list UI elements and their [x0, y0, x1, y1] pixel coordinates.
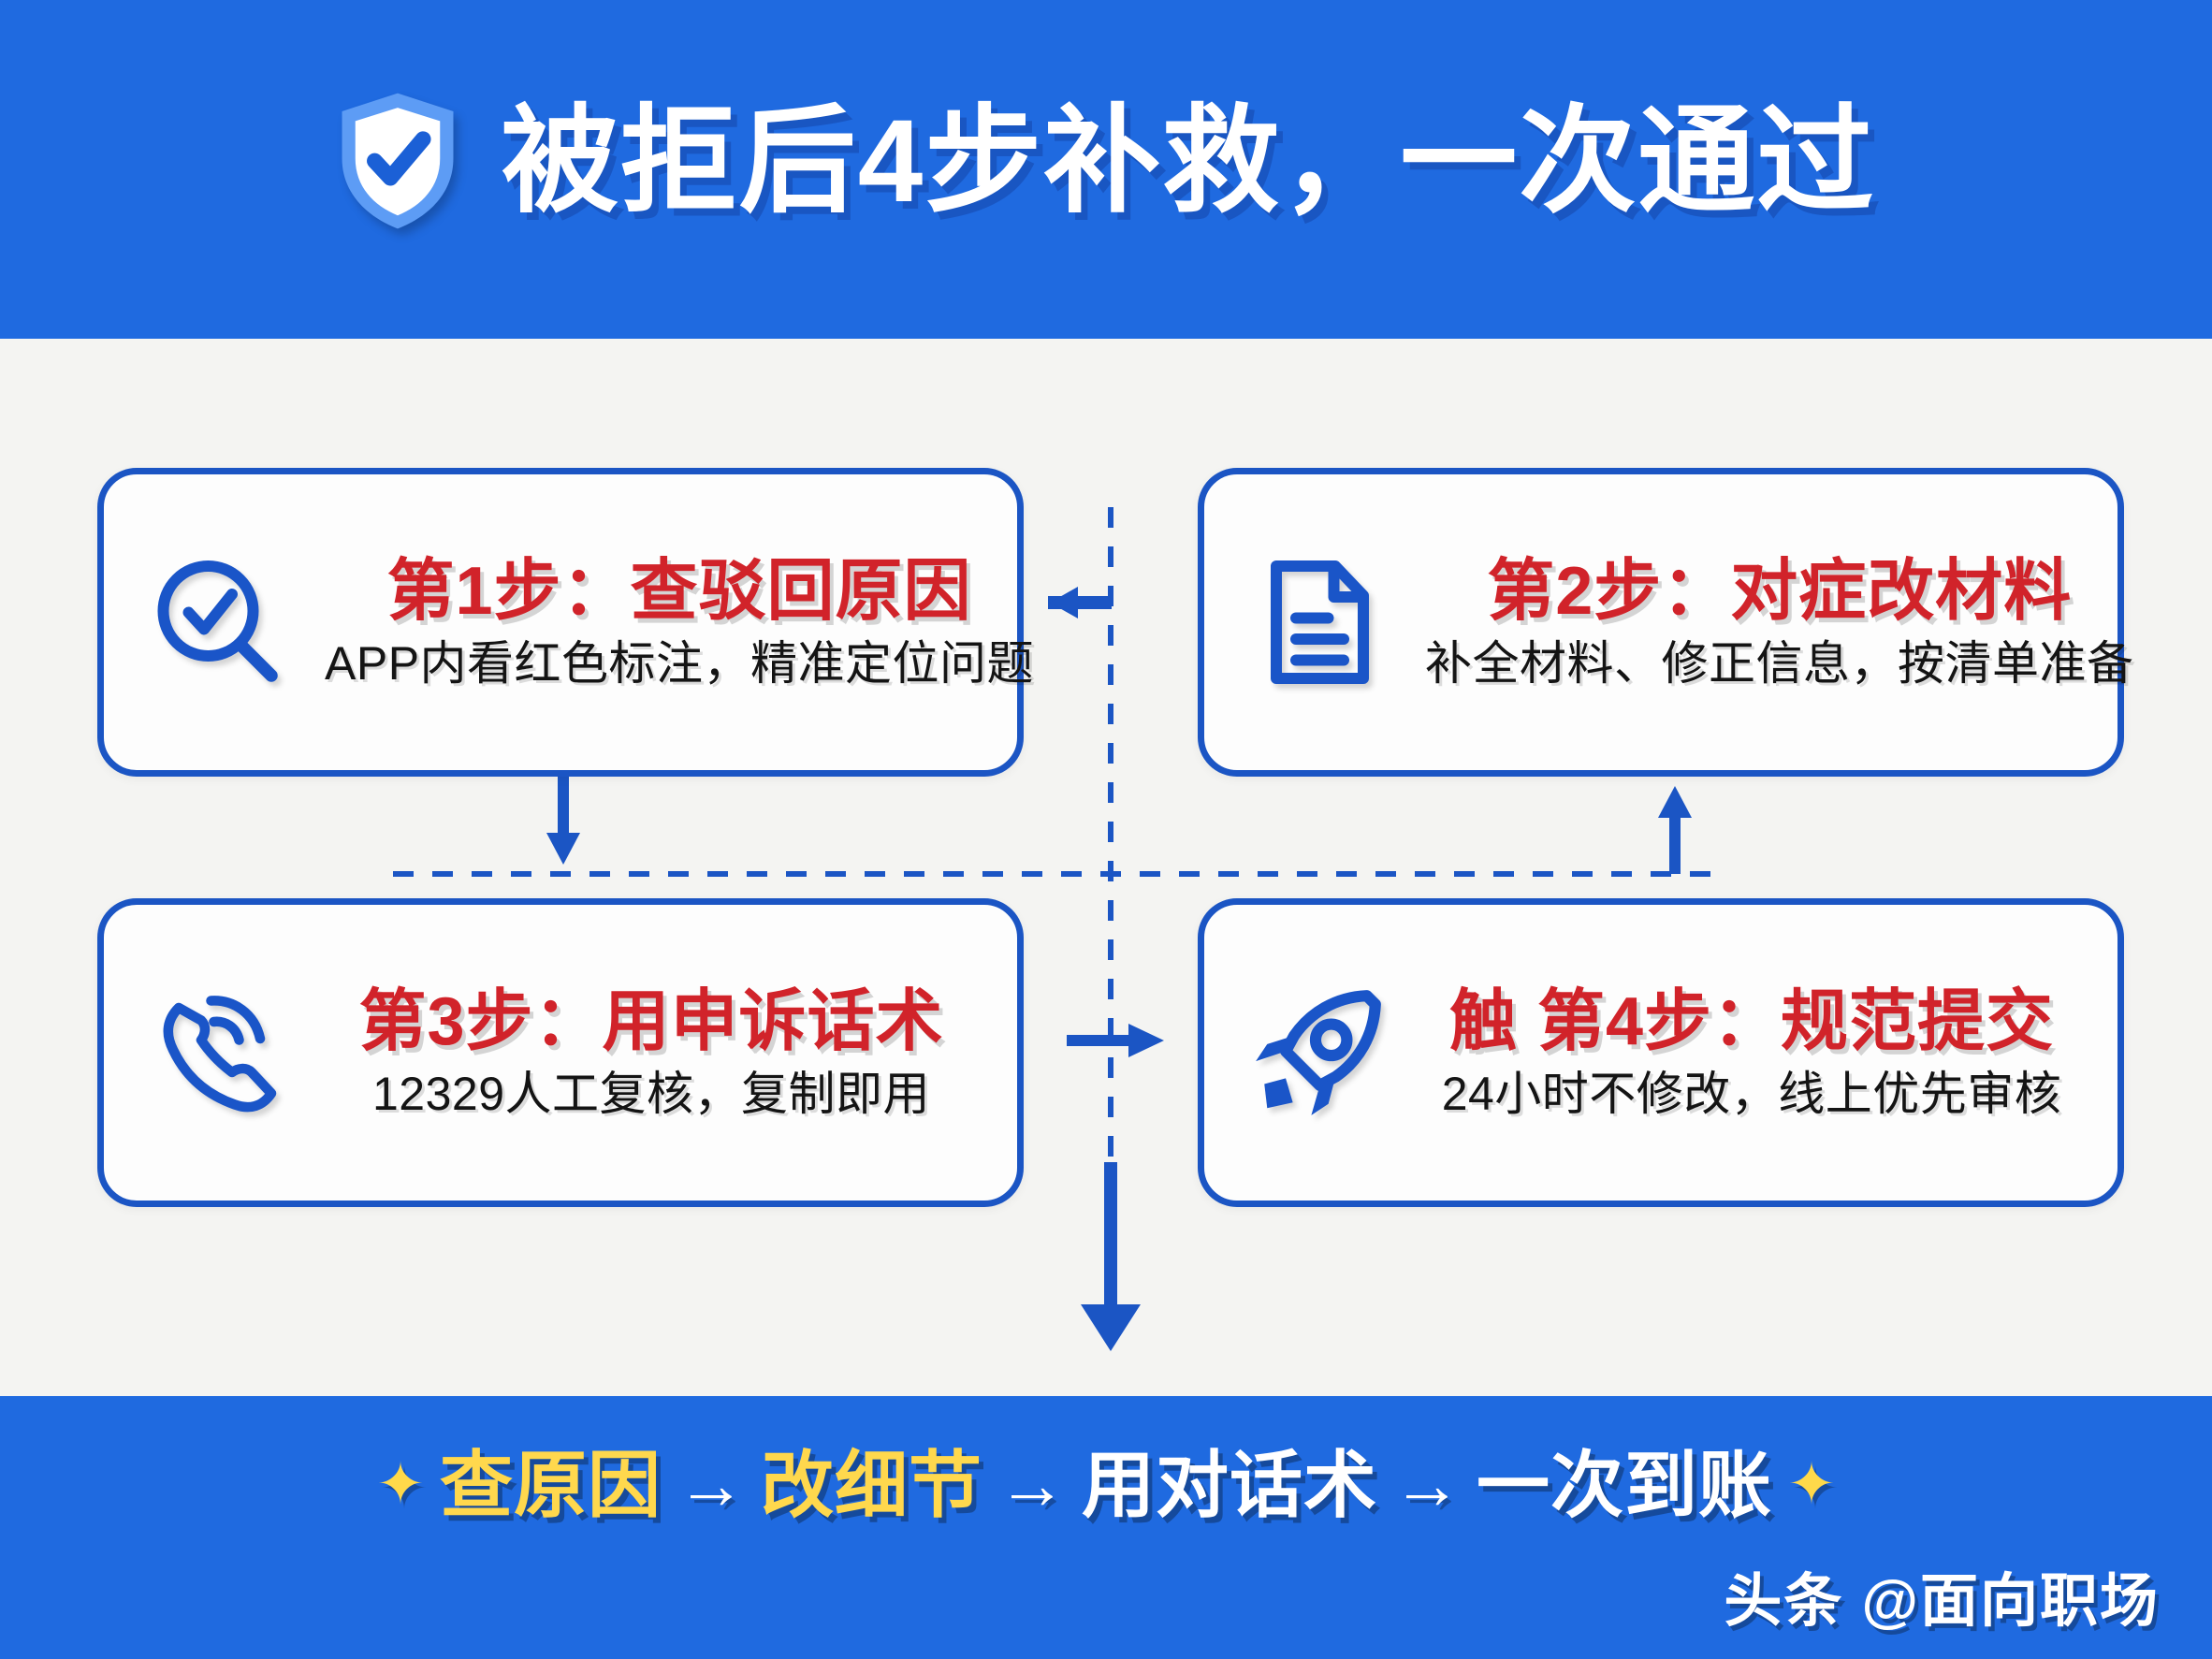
main-content: 第1步：查驳回原因 APP内看红色标注，精准定位问题 第2步：对症改材料 补全材…: [0, 339, 2212, 1396]
step-card-2[interactable]: 第2步：对症改材料 补全材料、修正信息，按清单准备: [1198, 468, 2124, 777]
footer-step-4: 一次到账: [1477, 1448, 1772, 1521]
magnifier-check-icon: [143, 547, 293, 697]
step-card-4-subtitle: 24小时不修改，线上优先审核: [1442, 1068, 2062, 1122]
step-card-1-body: 第1步：查驳回原因 APP内看红色标注，精准定位问题: [325, 554, 1034, 691]
step-card-3-body: 第3步：用申诉话术 12329人工复核，复制即用: [325, 984, 978, 1121]
step-card-3[interactable]: 第3步：用申诉话术 12329人工复核，复制即用: [97, 898, 1024, 1207]
step-card-1-subtitle: APP内看红色标注，精准定位问题: [325, 637, 1034, 691]
arrow-center-to-bottom: [1081, 1162, 1141, 1351]
arrow-card1-to-card3: [546, 777, 580, 865]
page-title: 被拒后4步补救，一次通过: [502, 103, 1876, 220]
header-banner: 被拒后4步补救，一次通过: [0, 0, 2212, 339]
footer-arrow-1-icon: →: [677, 1450, 746, 1520]
phone-call-icon: [143, 978, 293, 1128]
footer-arrow-3-icon: →: [1392, 1450, 1462, 1520]
step-card-4-body: 触 第4步：规范提交 24小时不修改，线上优先审核: [1425, 984, 2078, 1121]
step-card-2-title: 第2步：对症改材料: [1487, 554, 2072, 630]
sparkle-right-icon: ✦: [1787, 1456, 1836, 1514]
infographic-page: 被拒后4步补救，一次通过: [0, 0, 2212, 1659]
watermark: 头条 @面向职场: [1724, 1553, 2160, 1637]
arrow-center-to-card1: [1048, 587, 1112, 618]
footer-step-3: 用对话术: [1082, 1448, 1377, 1521]
footer-banner: ✦ 查原因 → 改细节 → 用对话术 → 一次到账 ✦ 头条 @面向职场: [0, 1396, 2212, 1659]
footer-step-2: 改细节: [761, 1448, 982, 1521]
arrow-center-to-card4: [1067, 1024, 1164, 1057]
shield-check-icon: [337, 91, 458, 231]
footer-summary-line: ✦ 查原因 → 改细节 → 用对话术 → 一次到账 ✦: [0, 1448, 2212, 1521]
sparkle-left-icon: ✦: [376, 1456, 425, 1514]
step-card-4[interactable]: 触 第4步：规范提交 24小时不修改，线上优先审核: [1198, 898, 2124, 1207]
step-card-2-subtitle: 补全材料、修正信息，按清单准备: [1425, 637, 2134, 691]
footer-step-1: 查原因: [440, 1448, 662, 1521]
step-card-2-body: 第2步：对症改材料 补全材料、修正信息，按清单准备: [1425, 554, 2134, 691]
step-card-3-title: 第3步：用申诉话术: [358, 984, 943, 1060]
step-card-3-subtitle: 12329人工复核，复制即用: [372, 1068, 930, 1122]
rocket-icon: [1244, 978, 1393, 1128]
document-lines-icon: [1244, 547, 1393, 697]
step-card-1-title: 第1步：查驳回原因: [387, 554, 972, 630]
arrow-center-to-card2: [1658, 786, 1692, 874]
step-card-4-title: 触 第4步：规范提交: [1449, 984, 2054, 1060]
step-card-1[interactable]: 第1步：查驳回原因 APP内看红色标注，精准定位问题: [97, 468, 1024, 777]
footer-arrow-2-icon: →: [997, 1450, 1067, 1520]
